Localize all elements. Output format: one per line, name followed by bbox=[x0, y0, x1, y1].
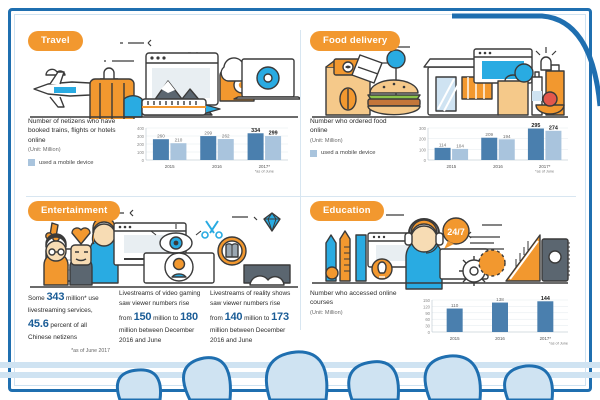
bar-value-label: 194 bbox=[503, 134, 511, 139]
bar-value-label: 138 bbox=[496, 297, 504, 302]
food-caption: Number who ordered food online (Unit: Mi… bbox=[310, 117, 406, 173]
y-tick-label: 400 bbox=[137, 126, 145, 131]
bar-2015-used a mobile device bbox=[452, 149, 468, 160]
ent-c2-mid: million to bbox=[151, 315, 180, 322]
chart-footnote: *as of June bbox=[255, 170, 274, 174]
bar-2017*-total bbox=[528, 129, 544, 160]
panel-entertainment: Entertainment bbox=[20, 194, 300, 364]
chart-footnote: *as of June bbox=[535, 170, 554, 174]
panel-education: Education bbox=[300, 194, 580, 364]
bar-2017*-used a mobile device bbox=[265, 136, 281, 160]
bar-value-label: 260 bbox=[157, 134, 165, 139]
ent-c1-value-343: 343 bbox=[46, 291, 64, 303]
food-legend: used a mobile device bbox=[310, 150, 406, 157]
ent-c3-mid: million to bbox=[242, 315, 271, 322]
x-tick-label: 2015 bbox=[446, 164, 456, 169]
bar-value-label: 262 bbox=[222, 134, 230, 139]
food-caption-title: Number who ordered food online bbox=[310, 117, 406, 136]
bar-value-label: 334 bbox=[251, 128, 260, 134]
y-tick-label: 0 bbox=[142, 158, 145, 163]
travel-caption: Number of netizens who have booked train… bbox=[28, 117, 124, 173]
x-tick-label: 2016 bbox=[212, 164, 222, 169]
travel-legend: used a mobile device bbox=[28, 159, 124, 166]
food-legend-label: used a mobile device bbox=[321, 150, 375, 156]
badge-travel[interactable]: Travel bbox=[28, 31, 83, 51]
legend-swatch-icon bbox=[310, 150, 317, 157]
x-tick-label: 2017* bbox=[539, 164, 551, 169]
y-tick-label: 90 bbox=[425, 311, 430, 316]
travel-caption-unit: (Unit: Million) bbox=[28, 147, 124, 153]
x-tick-label: 2017* bbox=[259, 164, 271, 169]
x-tick-label: 2016 bbox=[493, 164, 503, 169]
bar-2015-total bbox=[153, 139, 169, 160]
y-tick-label: 300 bbox=[137, 134, 145, 139]
badge-entertainment[interactable]: Entertainment bbox=[28, 201, 120, 221]
bar-2015-total bbox=[435, 148, 451, 160]
food-content: Number who ordered food online (Unit: Mi… bbox=[310, 117, 572, 173]
bar-2016-total bbox=[200, 136, 216, 160]
bottom-wave-decoration bbox=[0, 340, 600, 400]
food-caption-unit: (Unit: Million) bbox=[310, 138, 406, 144]
bar-value-label: 110 bbox=[451, 303, 459, 308]
bar-2015-total bbox=[447, 309, 463, 332]
badge-food-delivery[interactable]: Food delivery bbox=[310, 31, 400, 51]
travel-bar-chart[interactable]: 0100200300400260210201529926220163342992… bbox=[130, 117, 292, 173]
bar-2016-used a mobile device bbox=[499, 139, 515, 160]
legend-swatch-icon bbox=[28, 159, 35, 166]
food-chart-svg: 0100200300114104201520919420162952742017… bbox=[412, 117, 572, 173]
food-bar-chart[interactable]: 0100200300114104201520919420162952742017… bbox=[412, 117, 572, 173]
travel-content: Number of netizens who have booked train… bbox=[28, 117, 292, 173]
panel-travel: Travel bbox=[20, 24, 300, 194]
bar-value-label: 209 bbox=[485, 132, 493, 137]
y-tick-label: 60 bbox=[425, 317, 430, 322]
bar-value-label: 210 bbox=[175, 138, 183, 143]
ent-c3-value-140: 140 bbox=[225, 311, 243, 323]
ent-c1-pre: Some bbox=[28, 295, 46, 302]
agent-24-7-label: 24/7 bbox=[447, 227, 465, 237]
education-caption-title: Number who accessed online courses bbox=[310, 289, 410, 308]
panel-grid: Travel bbox=[20, 24, 580, 364]
bar-2017*-total bbox=[537, 301, 553, 332]
infographic-root: Travel bbox=[0, 0, 600, 400]
y-tick-label: 0 bbox=[428, 330, 431, 335]
ent-c2-value-180: 180 bbox=[180, 311, 198, 323]
bar-value-label: 299 bbox=[204, 131, 212, 136]
bar-value-label: 295 bbox=[531, 123, 540, 129]
y-tick-label: 100 bbox=[137, 150, 145, 155]
bar-2016-total bbox=[481, 138, 497, 160]
bar-2015-used a mobile device bbox=[170, 143, 186, 160]
y-tick-label: 100 bbox=[419, 147, 427, 152]
travel-caption-title: Number of netizens who have booked train… bbox=[28, 117, 124, 145]
ent-c3-value-173: 173 bbox=[271, 311, 289, 323]
bar-2016-total bbox=[492, 303, 508, 332]
y-tick-label: 150 bbox=[423, 298, 431, 303]
bar-2017*-total bbox=[248, 133, 264, 160]
education-content: Number who accessed online courses (Unit… bbox=[310, 289, 572, 345]
y-tick-label: 200 bbox=[419, 137, 427, 142]
y-tick-label: 120 bbox=[423, 304, 431, 309]
y-tick-label: 30 bbox=[425, 324, 430, 329]
education-caption-unit: (Unit: Million) bbox=[310, 310, 410, 316]
education-bar-chart[interactable]: 0306090120150110201513820161442017**as o… bbox=[416, 289, 572, 345]
bar-value-label: 114 bbox=[439, 142, 447, 147]
x-tick-label: 2015 bbox=[165, 164, 175, 169]
bar-value-label: 104 bbox=[456, 143, 464, 148]
y-tick-label: 200 bbox=[137, 142, 145, 147]
travel-chart-svg: 0100200300400260210201529926220163342992… bbox=[130, 117, 292, 173]
bar-value-label: 144 bbox=[541, 296, 550, 302]
badge-education[interactable]: Education bbox=[310, 201, 384, 221]
panel-food-delivery: Food delivery bbox=[300, 24, 580, 194]
travel-legend-label: used a mobile device bbox=[39, 160, 93, 166]
bar-value-label: 274 bbox=[549, 125, 558, 131]
education-caption: Number who accessed online courses (Unit… bbox=[310, 289, 410, 345]
bar-2016-used a mobile device bbox=[218, 139, 234, 160]
bar-value-label: 299 bbox=[269, 131, 278, 137]
y-tick-label: 0 bbox=[424, 158, 427, 163]
bar-2017*-used a mobile device bbox=[545, 131, 561, 160]
ent-c2-value-150: 150 bbox=[134, 311, 152, 323]
education-chart-svg: 0306090120150110201513820161442017**as o… bbox=[416, 289, 572, 345]
ent-c1-value-456: 45.6 bbox=[28, 318, 49, 330]
y-tick-label: 300 bbox=[419, 126, 427, 131]
